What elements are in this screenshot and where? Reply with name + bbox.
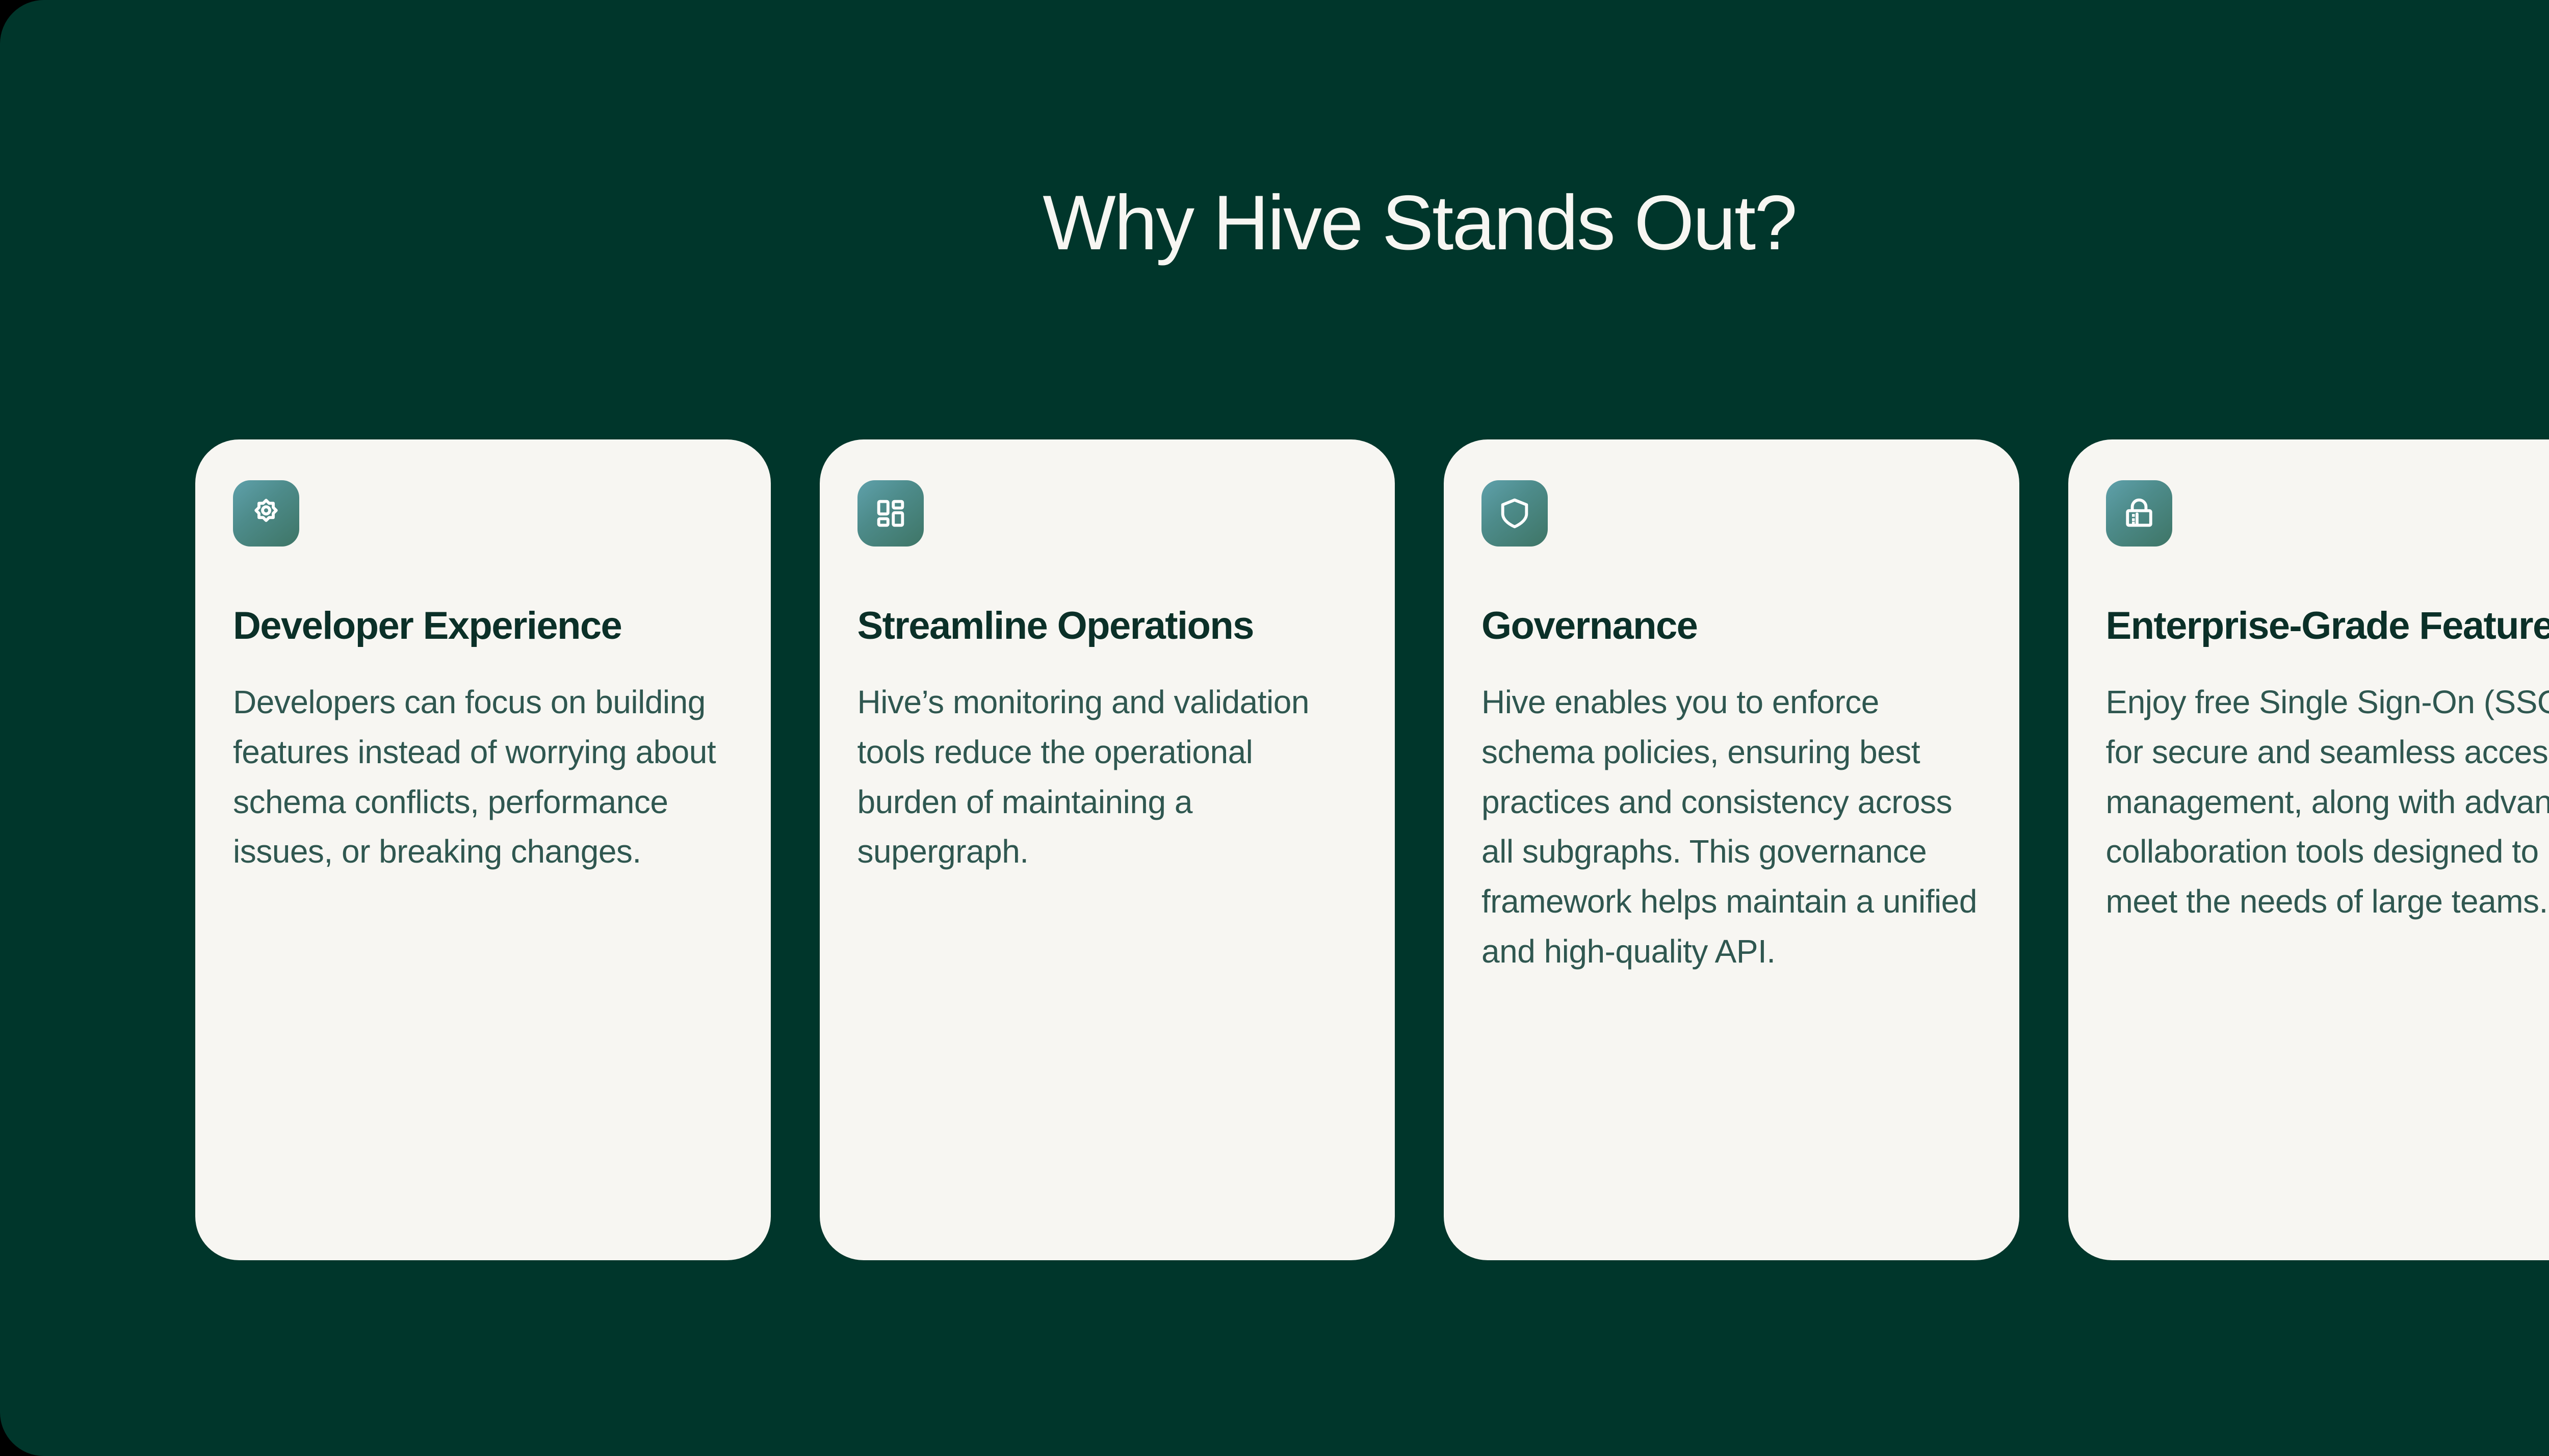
dashboard-grid-icon bbox=[857, 480, 924, 547]
feature-card-streamline-operations[interactable]: Streamline Operations Hive’s monitoring … bbox=[820, 439, 1395, 1260]
feature-card-body: Hive’s monitoring and validation tools r… bbox=[857, 678, 1358, 877]
page-title: Why Hive Stands Out? bbox=[0, 181, 2549, 265]
feature-card-grid: Developer Experience Developers can focu… bbox=[195, 439, 2549, 1260]
lock-icon bbox=[2106, 480, 2172, 547]
feature-card-body: Developers can focus on building feature… bbox=[233, 678, 733, 877]
feature-card-heading: Enterprise-Grade Features bbox=[2106, 603, 2549, 650]
feature-card-heading: Developer Experience bbox=[233, 603, 621, 650]
shield-icon bbox=[1481, 480, 1548, 547]
gear-icon bbox=[233, 480, 299, 547]
feature-card-heading: Streamline Operations bbox=[857, 603, 1254, 650]
feature-card-enterprise-grade-features[interactable]: Enterprise-Grade Features Enjoy free Sin… bbox=[2068, 439, 2549, 1260]
feature-card-heading: Governance bbox=[1481, 603, 1697, 650]
feature-card-developer-experience[interactable]: Developer Experience Developers can focu… bbox=[195, 439, 771, 1260]
feature-card-body: Enjoy free Single Sign-On (SSO) for secu… bbox=[2106, 678, 2549, 927]
screenshot-stage: Why Hive Stands Out? Developer Experienc… bbox=[0, 0, 2549, 1456]
feature-section-panel: Why Hive Stands Out? Developer Experienc… bbox=[0, 0, 2549, 1456]
feature-card-governance[interactable]: Governance Hive enables you to enforce s… bbox=[1444, 439, 2019, 1260]
feature-card-body: Hive enables you to enforce schema polic… bbox=[1481, 678, 1982, 977]
